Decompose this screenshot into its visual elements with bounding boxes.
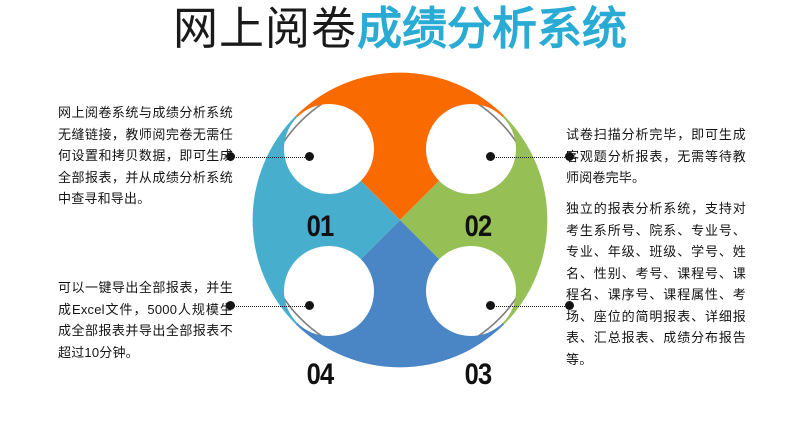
connector-dot-inner-01 (305, 152, 314, 161)
segment-number-02[interactable]: 02 (456, 212, 500, 242)
connector-line-03 (486, 301, 574, 312)
callout-text-03: 独立的报表分析系统，支持对考生系所号、院系、专业号、专业、年级、班级、学号、姓名… (566, 198, 746, 370)
callout-text-04: 可以一键导出全部报表，并生成Excel文件，5000人规模生成全部报表并导出全部… (58, 277, 233, 363)
diagram-svg (250, 70, 550, 370)
segment-number-04[interactable]: 04 (298, 360, 342, 390)
page-title-accent: 成绩分析系统 (357, 3, 627, 54)
four-segment-circle-diagram: 01 02 03 04 (250, 70, 550, 370)
connector-line-02 (486, 152, 574, 163)
connector-line-01 (226, 152, 314, 163)
page-title: 网上阅卷成绩分析系统 (0, 0, 800, 62)
connector-dot-inner-04 (305, 301, 314, 310)
segment-number-01[interactable]: 01 (298, 212, 342, 242)
petal-group (253, 73, 548, 368)
connector-dash-04 (231, 306, 309, 307)
connector-dash-03 (491, 306, 569, 307)
connector-line-04 (226, 301, 314, 312)
callout-text-02: 试卷扫描分析完毕，即可生成客观题分析报表，无需等待教师阅卷完毕。 (566, 124, 746, 189)
callout-text-01: 网上阅卷系统与成绩分析系统无缝链接，教师阅完卷无需任何设置和拷贝数据，即可生成全… (58, 102, 233, 210)
connector-dash-01 (231, 157, 309, 158)
page-title-primary: 网上阅卷 (173, 3, 357, 54)
connector-dash-02 (491, 157, 569, 158)
segment-number-03[interactable]: 03 (456, 360, 500, 390)
